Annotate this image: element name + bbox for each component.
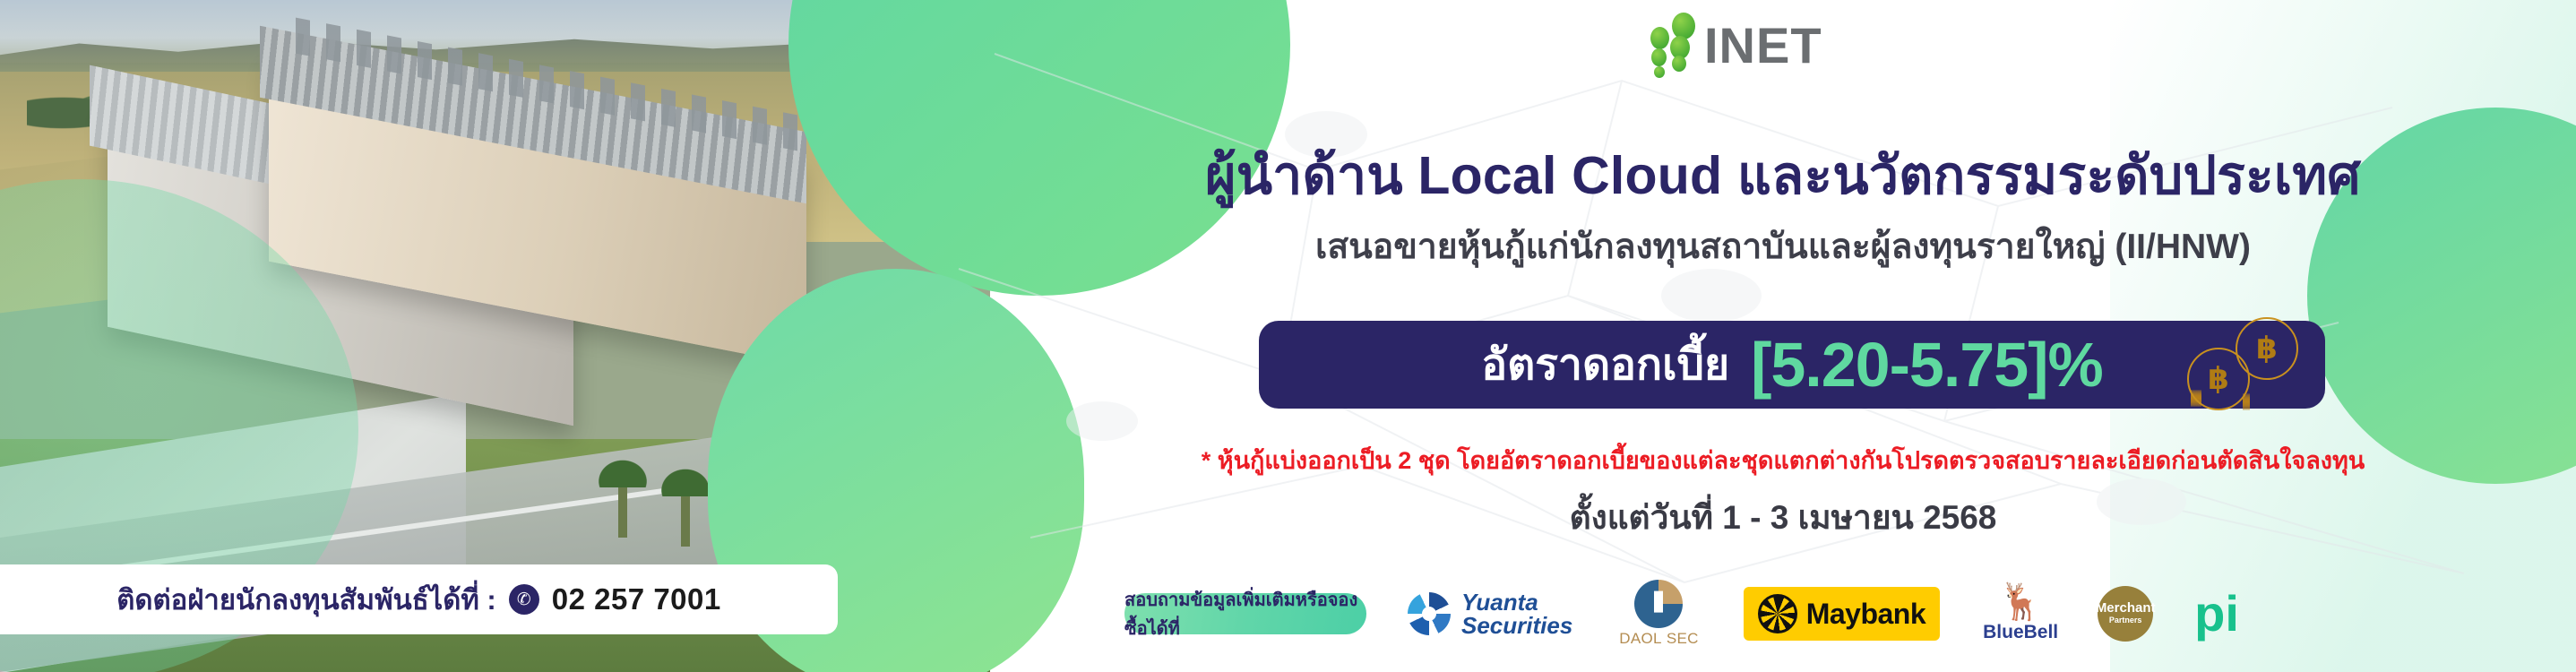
offer-content: INET ผู้นำด้าน Local Cloud และนวัตกรรมระ… <box>990 0 2576 672</box>
partner-logo-daol-sec[interactable]: DAOL SEC <box>1619 580 1698 648</box>
yuanta-star-icon <box>1408 592 1451 635</box>
pi-wordmark: pi <box>2194 594 2239 634</box>
bluebell-deer-icon: 🦌 <box>1998 584 2043 620</box>
maybank-wordmark: Maybank <box>1806 598 1926 631</box>
inet-wordmark: INET <box>1704 23 1822 68</box>
daol-line1: DAOL <box>1619 630 1662 647</box>
gold-coins-icon: ฿ ฿ <box>2187 299 2304 416</box>
palm-tree <box>681 484 690 547</box>
partner-logo-row: สอบถามข้อมูลเพิ่มเติมหรือจองซื้อได้ที่ Y… <box>1124 582 2558 645</box>
bluebell-wordmark: BlueBell <box>1983 622 2058 643</box>
disclaimer-note: * หุ้นกู้แบ่งออกเป็น 2 ชุด โดยอัตราดอกเบ… <box>990 441 2576 479</box>
daol-line2: SEC <box>1667 630 1699 647</box>
investor-relations-contact-card: ติดต่อฝ่ายนักลงทุนสัมพันธ์ได้ที่ : ✆ 02 … <box>0 564 838 634</box>
interest-rate-value: [5.20-5.75]% <box>1751 329 2103 401</box>
offer-subtitle: เสนอขายหุ้นกู้แก่นักลงทุนสถาบันและผู้ลงท… <box>990 219 2576 274</box>
page-title: ผู้นำด้าน Local Cloud และนวัตกรรมระดับปร… <box>990 133 2576 217</box>
interest-rate-label: อัตราดอกเบี้ย <box>1481 331 1729 399</box>
merchant-line1: Merchant <box>2096 601 2156 615</box>
partner-logo-bluebell[interactable]: 🦌 BlueBell <box>1983 584 2058 643</box>
palm-tree <box>618 475 627 538</box>
cta-button[interactable]: สอบถามข้อมูลเพิ่มเติมหรือจองซื้อได้ที่ <box>1124 593 1366 634</box>
coin-baht-back: ฿ <box>2236 317 2298 380</box>
merchant-line2: Partners <box>2109 615 2142 626</box>
partner-logo-yuanta[interactable]: Yuanta Securities <box>1408 590 1572 637</box>
contact-label: ติดต่อฝ่ายนักลงทุนสัมพันธ์ได้ที่ : <box>116 577 495 622</box>
contact-phone-number[interactable]: 02 257 7001 <box>552 582 721 616</box>
inet-logo[interactable]: INET <box>1649 13 1822 68</box>
phone-icon: ✆ <box>509 584 539 615</box>
maybank-tiger-icon <box>1758 594 1797 633</box>
inet-dots-icon <box>1649 13 1695 68</box>
offer-date-range: ตั้งแต่วันที่ 1 - 3 เมษายน 2568 <box>990 491 2576 544</box>
interest-rate-box: อัตราดอกเบี้ย [5.20-5.75]% ฿ ฿ <box>1259 321 2325 409</box>
inet-bond-offer-banner: INET ผู้นำด้าน Local Cloud และนวัตกรรมระ… <box>0 0 2576 672</box>
partner-logo-pi[interactable]: pi <box>2194 594 2239 634</box>
daol-pie-icon <box>1634 580 1683 628</box>
partner-logo-maybank[interactable]: Maybank <box>1744 587 1940 641</box>
yuanta-line2: Securities <box>1461 612 1572 639</box>
partner-logo-merchant-partners[interactable]: Merchant Partners <box>2098 586 2153 642</box>
